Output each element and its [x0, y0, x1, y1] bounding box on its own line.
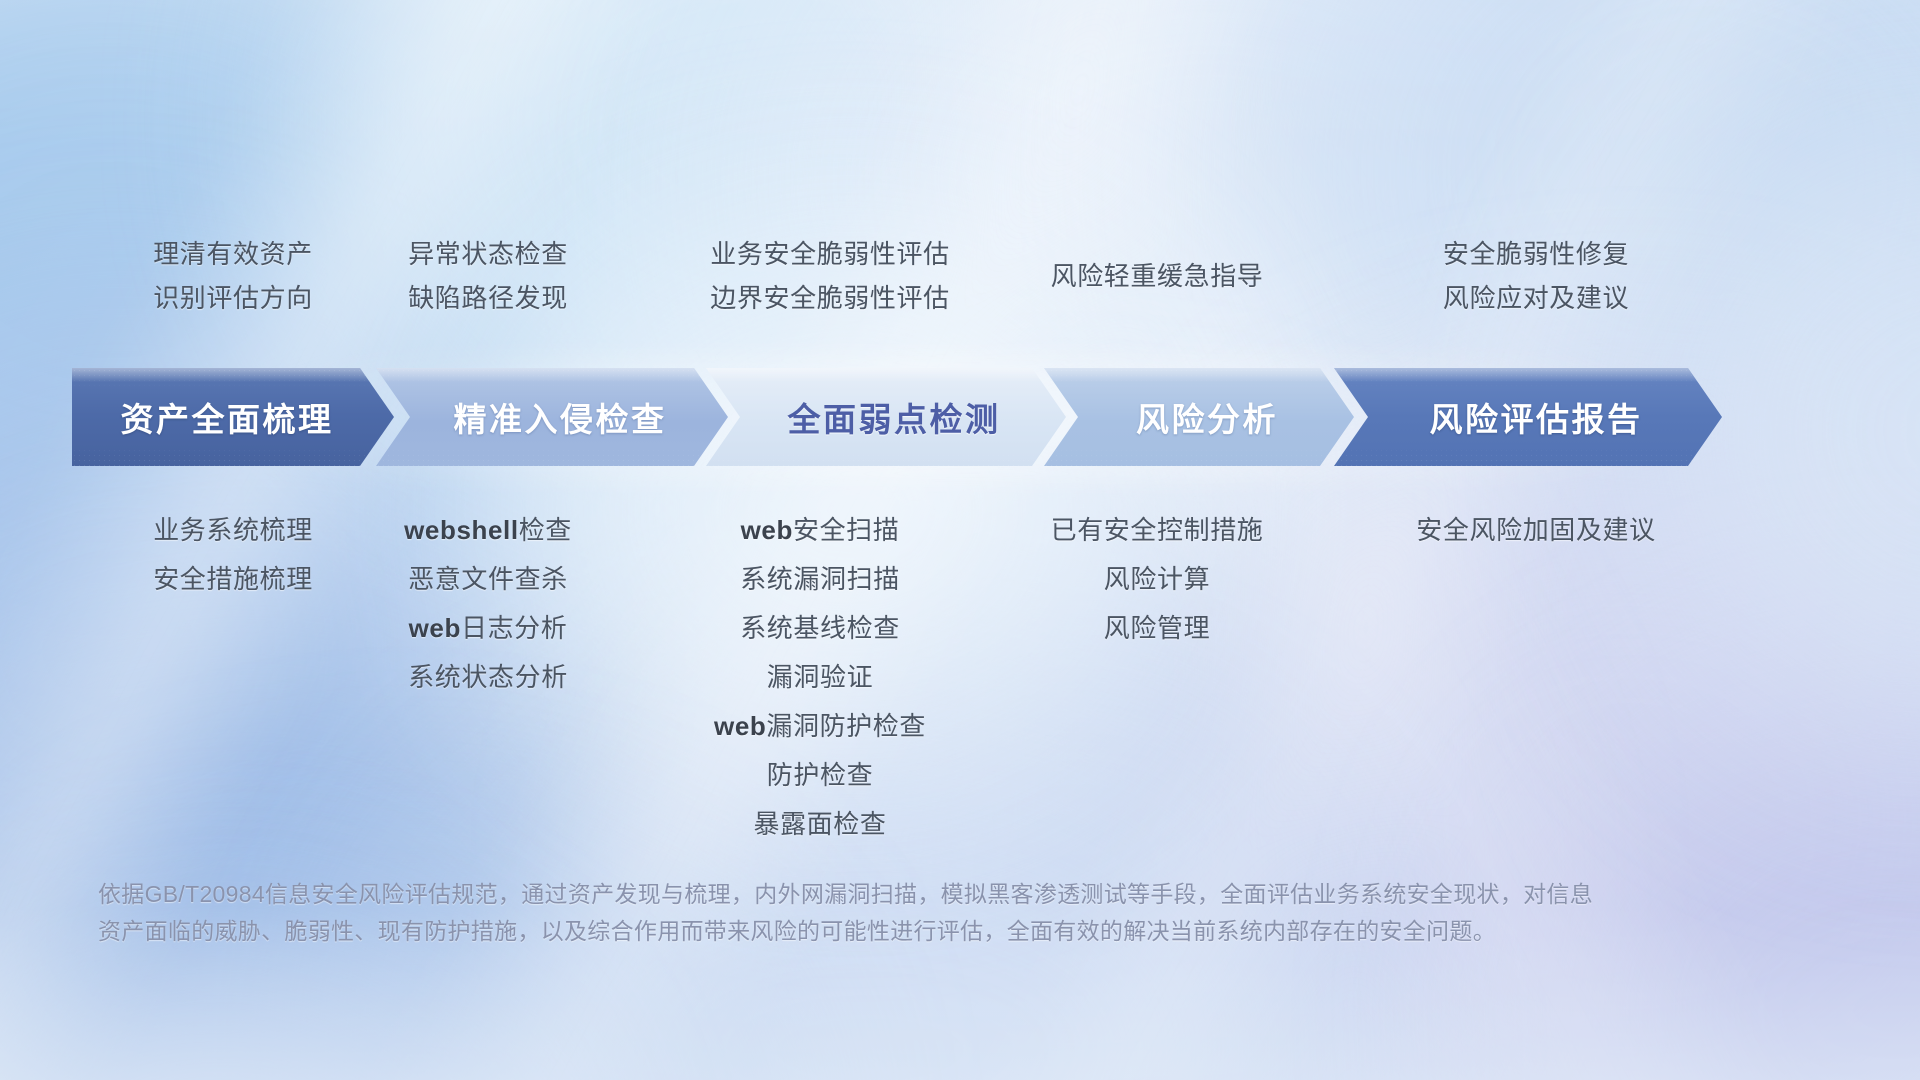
stage-upper-captions-risk-report: 安全脆弱性修复 风险应对及建议 [1386, 232, 1686, 320]
list-item: 防护检查 [640, 751, 1000, 800]
list-item: webshell检查 [320, 506, 656, 555]
stage-arrow-band: 资产全面梳理 精准入侵检查 全面弱点检测 风险分析 风险评估报告 [72, 368, 1862, 466]
list-item: 暴露面检查 [640, 800, 1000, 849]
list-item: web漏洞防护检查 [640, 702, 1000, 751]
caption-line: 安全脆弱性修复 [1386, 232, 1686, 276]
list-item: 系统漏洞扫描 [640, 555, 1000, 604]
caption-line: 风险轻重缓急指导 [1000, 254, 1314, 298]
footer-line-1: 依据GB/T20984信息安全风险评估规范，通过资产发现与梳理，内外网漏洞扫描，… [98, 876, 1638, 913]
stage-lower-list-risk-report: 安全风险加固及建议 [1386, 506, 1686, 555]
list-item: 风险计算 [1000, 555, 1314, 604]
stage-arrow-label: 精准入侵检查 [454, 393, 667, 441]
stage-lower-list-weakness-detection: web安全扫描 系统漏洞扫描 系统基线检查 漏洞验证 web漏洞防护检查 防护检… [640, 506, 1000, 849]
process-flow-diagram: 理清有效资产 识别评估方向 异常状态检查 缺陷路径发现 业务安全脆弱性评估 边界… [0, 0, 1920, 1080]
stage-arrow-weakness-detection[interactable]: 全面弱点检测 [706, 368, 1066, 466]
stage-arrow-label: 风险评估报告 [1430, 393, 1643, 441]
caption-line: 风险应对及建议 [1386, 276, 1686, 320]
caption-line: 缺陷路径发现 [320, 276, 656, 320]
stage-upper-captions-risk-analysis: 风险轻重缓急指导 [1000, 254, 1314, 298]
list-item: 恶意文件查杀 [320, 555, 656, 604]
footer-line-2: 资产面临的威胁、脆弱性、现有防护措施，以及综合作用而带来风险的可能性进行评估，全… [98, 913, 1638, 950]
list-item: 漏洞验证 [640, 653, 1000, 702]
stage-arrow-label: 资产全面梳理 [121, 393, 334, 441]
stage-arrow-label: 风险分析 [1136, 393, 1278, 441]
stage-lower-list-intrusion-check: webshell检查 恶意文件查杀 web日志分析 系统状态分析 [320, 506, 656, 702]
stage-lower-list-risk-analysis: 已有安全控制措施 风险计算 风险管理 [1000, 506, 1314, 653]
stage-arrow-label: 全面弱点检测 [788, 393, 1001, 441]
list-item: 风险管理 [1000, 604, 1314, 653]
stage-arrow-risk-report[interactable]: 风险评估报告 [1334, 368, 1722, 466]
footer-description: 依据GB/T20984信息安全风险评估规范，通过资产发现与梳理，内外网漏洞扫描，… [98, 876, 1638, 950]
caption-line: 异常状态检查 [320, 232, 656, 276]
stage-upper-captions-intrusion-check: 异常状态检查 缺陷路径发现 [320, 232, 656, 320]
list-item: 已有安全控制措施 [1000, 506, 1314, 555]
list-item: 系统状态分析 [320, 653, 656, 702]
stage-arrow-asset-inventory[interactable]: 资产全面梳理 [72, 368, 394, 466]
stage-upper-captions-weakness-detection: 业务安全脆弱性评估 边界安全脆弱性评估 [650, 232, 1010, 320]
list-item: web安全扫描 [640, 506, 1000, 555]
list-item: 系统基线检查 [640, 604, 1000, 653]
list-item: 安全风险加固及建议 [1386, 506, 1686, 555]
caption-line: 业务安全脆弱性评估 [650, 232, 1010, 276]
stage-arrow-intrusion-check[interactable]: 精准入侵检查 [376, 368, 728, 466]
stage-arrow-risk-analysis[interactable]: 风险分析 [1044, 368, 1354, 466]
list-item: web日志分析 [320, 604, 656, 653]
caption-line: 边界安全脆弱性评估 [650, 276, 1010, 320]
